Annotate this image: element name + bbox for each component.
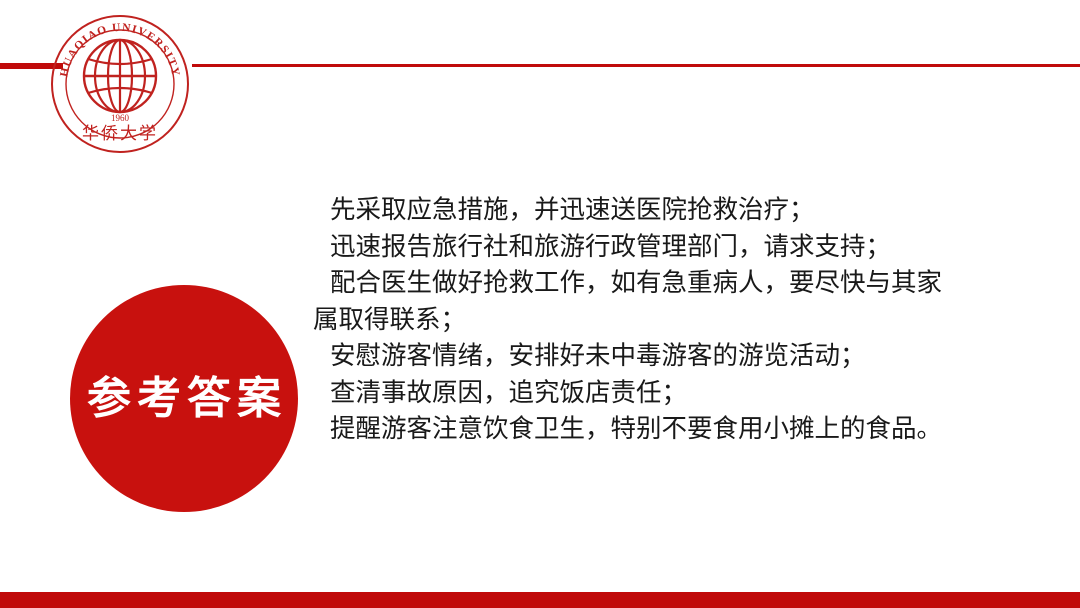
footer-accent-bar [0,592,1080,608]
reference-answer-badge: 参考答案 [70,285,298,512]
reference-answer-badge-label: 参考答案 [81,377,287,421]
header-rule-right [192,64,1080,67]
seal-year: 1960 [111,113,130,123]
slide-canvas: HUAQIAO UNIVERSITY 1960 华侨大学 参考答案 先采取应急措… [0,0,1080,608]
answer-line: 提醒游客注意饮食卫生，特别不要食用小摊上的食品。 [313,411,958,448]
answer-line: 先采取应急措施，并迅速送医院抢救治疗； [313,192,958,229]
answer-text-block: 先采取应急措施，并迅速送医院抢救治疗； 迅速报告旅行社和旅游行政管理部门，请求支… [313,192,958,448]
answer-line: 查清事故原因，追究饭店责任； [313,375,958,412]
huaqiao-university-seal-icon: HUAQIAO UNIVERSITY 1960 华侨大学 [49,13,191,155]
seal-chinese-name: 华侨大学 [82,124,158,144]
answer-line: 安慰游客情绪，安排好未中毒游客的游览活动； [313,338,958,375]
answer-line: 配合医生做好抢救工作，如有急重病人，要尽快与其家属取得联系； [313,265,958,338]
answer-line: 迅速报告旅行社和旅游行政管理部门，请求支持； [313,229,958,266]
